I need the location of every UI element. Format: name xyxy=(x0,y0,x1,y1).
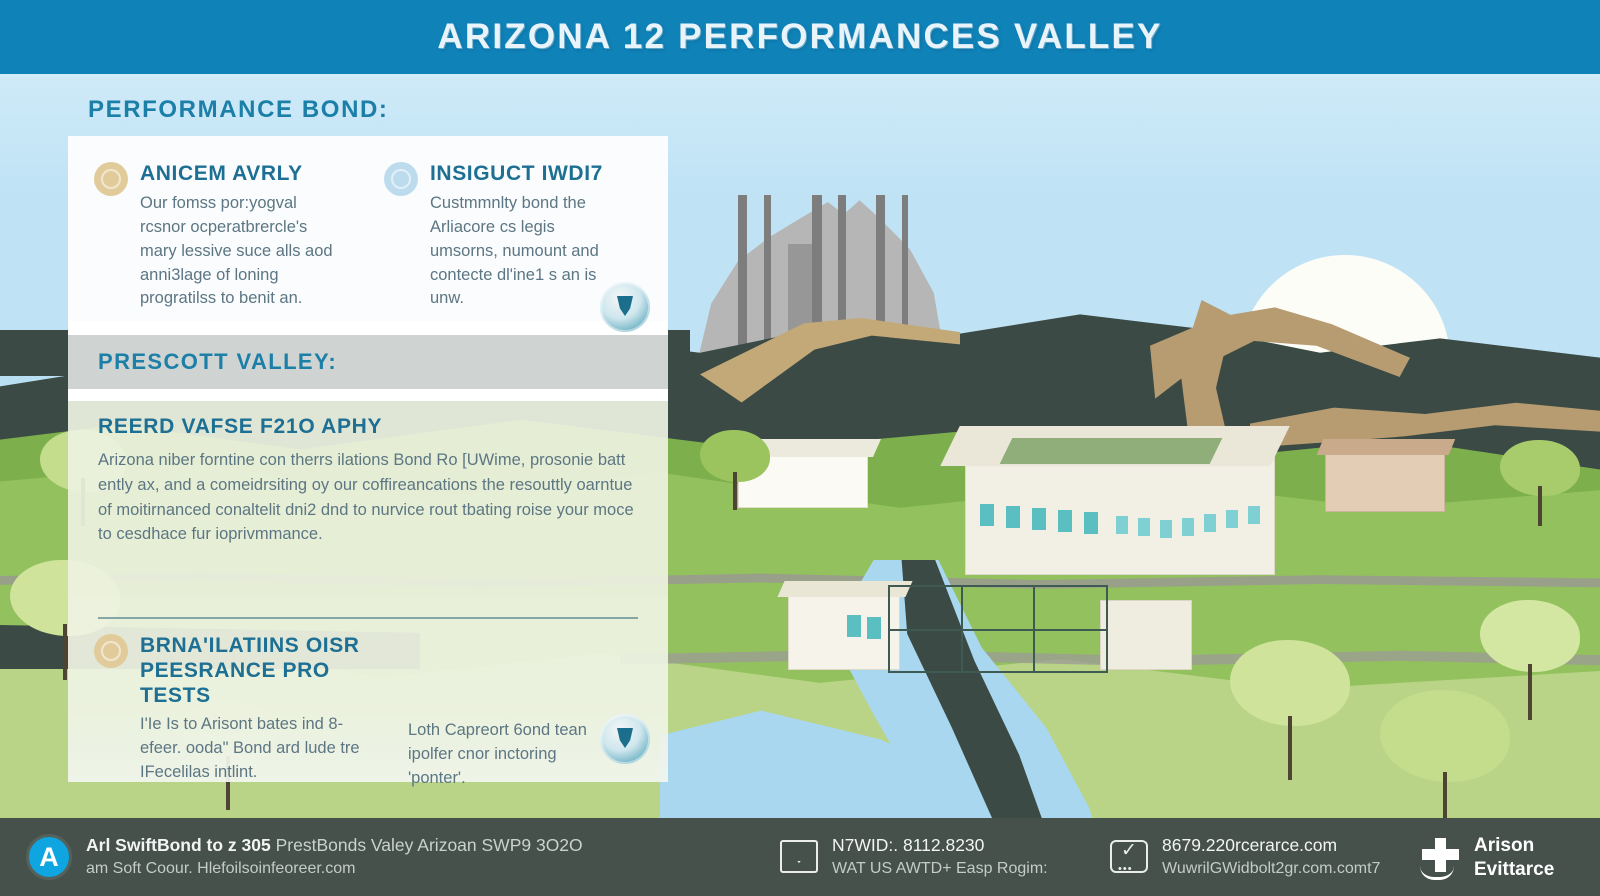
contact-line-1: N7WID:. 8112.8230 xyxy=(832,834,1048,858)
cross-plant-icon xyxy=(1420,836,1460,880)
section-title: PRESCOTT VALLEY: xyxy=(98,349,337,375)
footer-partner-brand[interactable]: Arison Evittarce xyxy=(1420,834,1554,882)
footer-heading: Arl SwiftBond to z 305 PrestBonds Valey … xyxy=(86,834,583,858)
steel-frame-structure xyxy=(888,585,1108,673)
page-header: ARIZONA 12 PERFORMANCES VALLEY xyxy=(0,0,1600,74)
footer-subtext: am Soft Coour. Hlefoilsoinfeoreer.com xyxy=(86,858,583,880)
bottom-heading: BRNA'ILATIINS OISR PEESRANCE PRO TESTS xyxy=(140,634,360,708)
main-facility xyxy=(965,455,1275,575)
shield-emblem-icon xyxy=(600,714,650,764)
contact-line-2: WuwrilGWidbolt2gr.com.comt7 xyxy=(1162,858,1380,880)
page-footer: A Arl SwiftBond to z 305 PrestBonds Vale… xyxy=(0,818,1600,896)
footer-heading-strong: Arl SwiftBond to z 305 xyxy=(86,835,271,855)
partner-name-line1: Arison xyxy=(1474,834,1554,858)
body-paragraph: Arizona niber forntine con therrs ilatio… xyxy=(98,448,648,547)
brand-logo-icon: A xyxy=(26,834,72,880)
east-building xyxy=(1325,450,1445,512)
gold-circle-badge-icon xyxy=(94,162,128,196)
tree-icon xyxy=(700,430,770,510)
bottom-feature-block: BRNA'ILATIINS OISR PEESRANCE PRO TESTS I… xyxy=(94,634,360,785)
footer-contact-web[interactable]: 8679.220rcerarce.com WuwrilGWidbolt2gr.c… xyxy=(1110,834,1380,879)
contact-line-2: WAT US AWTD+ Easp Rogim: xyxy=(832,858,1048,880)
tree-icon xyxy=(1230,640,1350,780)
horizontal-divider xyxy=(98,617,638,619)
lower-building xyxy=(1100,600,1192,670)
header-rule xyxy=(0,74,1600,77)
feature-heading: ANICEM AVRLY xyxy=(140,162,340,187)
feature-column: ANICEM AVRLY Our fomss por:yogval rcsnor… xyxy=(94,162,344,311)
bottom-body: Loth Capreort 6ond tean ipolfer cnor inc… xyxy=(408,719,598,791)
infographic-stage: ARIZONA 12 PERFORMANCES VALLEY PERFORMAN… xyxy=(0,0,1600,896)
partner-name-line2: Evittarce xyxy=(1474,858,1554,882)
panel-separator xyxy=(68,321,668,335)
mail-icon xyxy=(780,840,818,873)
document-check-icon xyxy=(1110,840,1148,873)
feature-heading: INSIGUCT IWDI7 xyxy=(430,162,620,187)
bottom-body: I'Ie Is to Arisont bates ind 8-efeer. oo… xyxy=(140,713,360,785)
footer-contact-phone[interactable]: N7WID:. 8112.8230 WAT US AWTD+ Easp Rogi… xyxy=(780,834,1048,879)
feature-body: Our fomss por:yogval rcsnor ocperatbrerc… xyxy=(140,192,340,312)
tree-icon xyxy=(1500,440,1580,526)
content-card: ANICEM AVRLY Our fomss por:yogval rcsnor… xyxy=(68,136,668,782)
contact-line-1: 8679.220rcerarce.com xyxy=(1162,834,1380,858)
blue-circle-badge-icon xyxy=(384,162,418,196)
feature-body: Custmmnlty bond the Arliacore cs legis u… xyxy=(430,192,620,312)
footer-brand-block[interactable]: A Arl SwiftBond to z 305 PrestBonds Vale… xyxy=(26,834,583,880)
panel-separator xyxy=(68,389,668,401)
tree-icon xyxy=(1480,600,1580,720)
subsection-title: REERD VAFSE F21O APHY xyxy=(98,415,382,439)
gold-circle-badge-icon xyxy=(94,634,128,668)
page-title: ARIZONA 12 PERFORMANCES VALLEY xyxy=(437,17,1162,57)
lower-building xyxy=(788,592,900,670)
section-kicker: PERFORMANCE BOND: xyxy=(88,96,389,124)
shield-emblem-icon xyxy=(600,282,650,332)
footer-heading-tail: PrestBonds Valey Arizoan SWP9 3O2O xyxy=(276,835,583,855)
